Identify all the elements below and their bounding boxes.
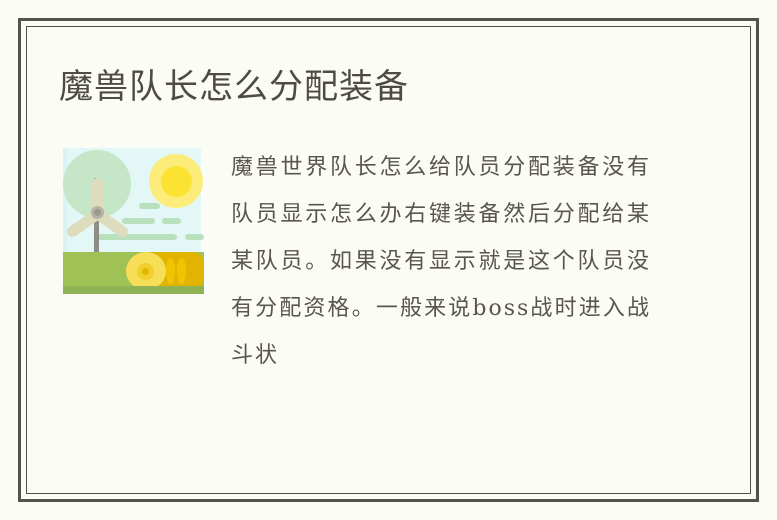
illustration-figure	[59, 148, 204, 298]
hay-bale-center-dot-icon	[142, 268, 149, 275]
article-paragraph: 魔兽世界队长怎么给队员分配装备没有队员显示怎么办右键装备然后分配给某某队员。如果…	[231, 144, 651, 379]
cloud-icon	[185, 234, 204, 240]
page-title: 魔兽队长怎么分配装备	[59, 65, 409, 109]
cloud-icon	[122, 218, 155, 224]
article-page: 魔兽队长怎么分配装备	[0, 0, 777, 520]
illustration-canvas	[63, 148, 204, 298]
cloud-icon	[139, 203, 160, 209]
cloud-icon	[97, 234, 177, 240]
cloud-icon	[162, 218, 181, 224]
hay-bale-arc-icon	[166, 258, 175, 284]
article-body: 魔兽世界队长怎么给队员分配装备没有队员显示怎么办右键装备然后分配给某某队员。如果…	[59, 144, 719, 444]
turbine-hub-center-icon	[94, 209, 101, 216]
hay-bale-arc-icon	[177, 258, 186, 284]
ground-strip	[63, 286, 204, 294]
article-content: 魔兽队长怎么分配装备	[26, 26, 751, 494]
sun-core-icon	[161, 166, 192, 197]
